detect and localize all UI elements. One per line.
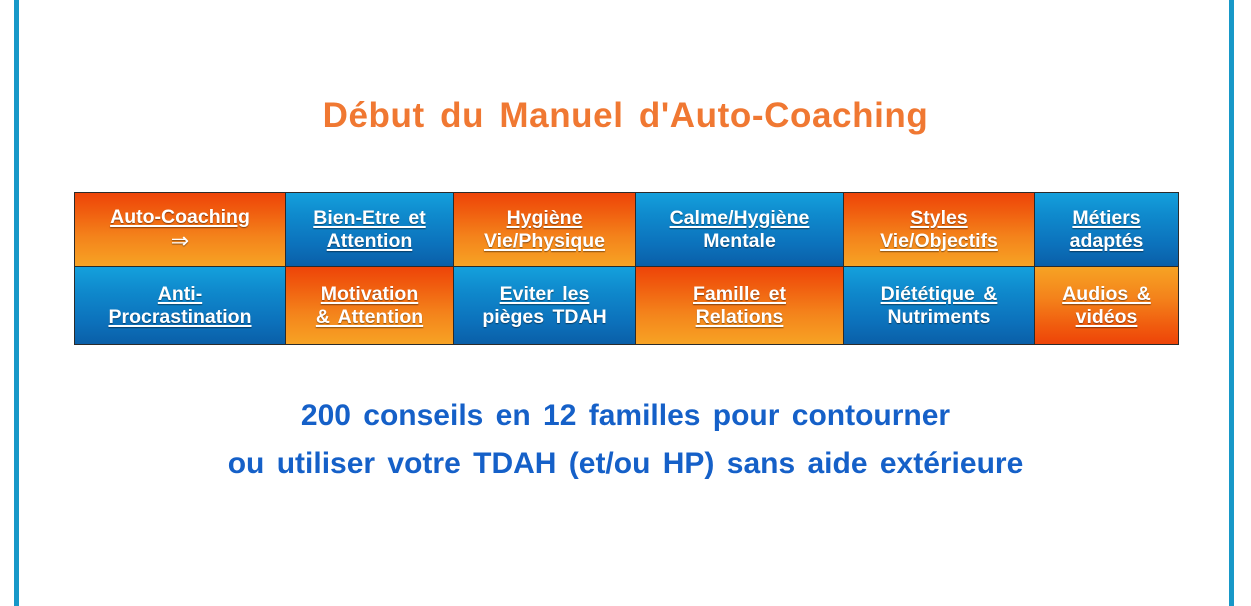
category-tile-styles-vie-objectifs[interactable]: StylesVie/Objectifs	[843, 192, 1035, 267]
category-tile-label: Diététique &	[881, 283, 998, 306]
category-tile-label: Bien-Etre et	[313, 207, 425, 230]
category-tile-label: Eviter les	[500, 283, 590, 306]
page-title: Début du Manuel d'Auto-Coaching	[0, 96, 1251, 136]
category-tile-label: Calme/Hygiène	[670, 207, 810, 230]
category-tile-metiers-adaptes[interactable]: Métiersadaptés	[1034, 192, 1179, 267]
category-tile-label: Vie/Physique	[484, 230, 605, 253]
category-tile-dietetique-nutriments[interactable]: Diététique &Nutriments	[843, 266, 1035, 345]
tagline-line-2: ou utiliser votre TDAH (et/ou HP) sans a…	[0, 440, 1251, 488]
category-tile-eviter-pieges-tdah[interactable]: Eviter lespièges TDAH	[453, 266, 636, 345]
tagline: 200 conseils en 12 familles pour contour…	[0, 392, 1251, 488]
category-tile-label: vidéos	[1076, 306, 1138, 329]
category-tile-label: Famille et	[693, 283, 786, 306]
category-tile-label: & Attention	[316, 306, 423, 329]
category-tile-label: Procrastination	[108, 306, 251, 329]
category-grid: Auto-Coaching⇒Bien-Etre etAttentionHygiè…	[74, 192, 1178, 344]
category-tile-label: Anti-	[158, 283, 202, 306]
right-accent-rule	[1229, 0, 1234, 606]
category-tile-label: Nutriments	[888, 306, 991, 329]
category-tile-label: Hygiène	[507, 207, 583, 230]
tagline-line-1: 200 conseils en 12 familles pour contour…	[0, 392, 1251, 440]
category-tile-label: Vie/Objectifs	[880, 230, 998, 253]
category-tile-famille-relations[interactable]: Famille etRelations	[635, 266, 844, 345]
category-tile-bien-etre-attention[interactable]: Bien-Etre etAttention	[285, 192, 454, 267]
category-tile-label: Motivation	[321, 283, 419, 306]
category-tile-label: Auto-Coaching	[110, 206, 250, 229]
category-tile-anti-procrastination[interactable]: Anti-Procrastination	[74, 266, 286, 345]
category-tile-motivation-attention[interactable]: Motivation& Attention	[285, 266, 454, 345]
right-arrow-icon: ⇒	[171, 229, 189, 253]
category-tile-label: Métiers	[1072, 207, 1140, 230]
category-tile-label: pièges TDAH	[482, 306, 606, 329]
category-tile-auto-coaching[interactable]: Auto-Coaching⇒	[74, 192, 286, 267]
category-tile-hygiene-vie-physique[interactable]: HygièneVie/Physique	[453, 192, 636, 267]
category-tile-label: Styles	[910, 207, 967, 230]
category-tile-label: Audios &	[1062, 283, 1151, 306]
category-tile-audios-videos[interactable]: Audios &vidéos	[1034, 266, 1179, 345]
category-tile-calme-hygiene-mentale[interactable]: Calme/HygièneMentale	[635, 192, 844, 267]
left-accent-rule	[14, 0, 19, 606]
category-tile-label: Mentale	[703, 230, 776, 253]
category-tile-label: Attention	[327, 230, 413, 253]
category-tile-label: adaptés	[1070, 230, 1144, 253]
category-tile-label: Relations	[696, 306, 784, 329]
